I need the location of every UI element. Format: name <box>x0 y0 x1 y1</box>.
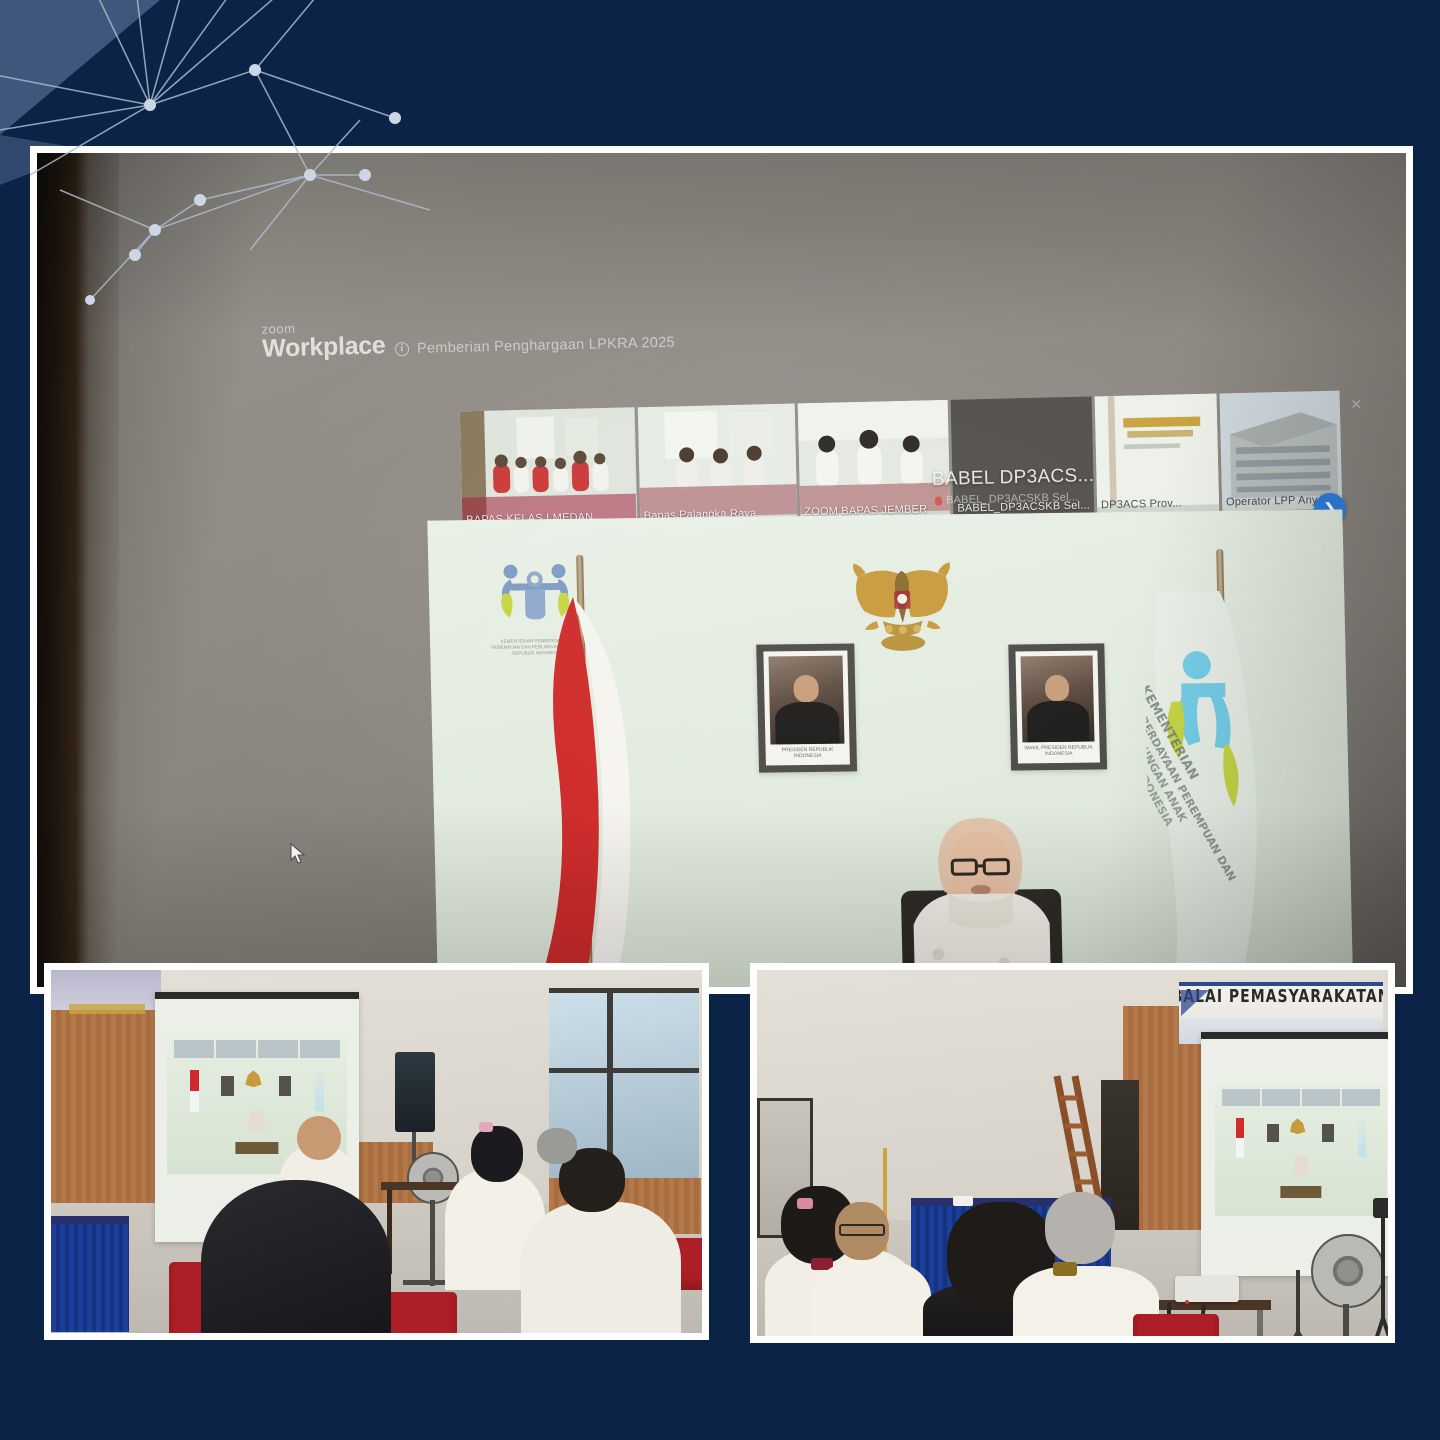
zoom-workplace-watermark: zoom Workplace <box>261 319 385 361</box>
mini-speaker-figure <box>249 1110 265 1132</box>
shared-video-stage: KEMENTERIAN PEMBERDAYAAN PEREMPUAN DAN P… <box>427 509 1355 987</box>
mini-podium <box>1280 1186 1321 1198</box>
microphone-muted-icon <box>935 496 942 505</box>
list-item-label: DP3ACS Prov... <box>1101 497 1216 512</box>
list-item <box>813 1260 931 1336</box>
audience-head-gray <box>537 1128 577 1164</box>
list-item[interactable]: ZOOM BAPAS JEMBER <box>798 400 951 522</box>
portrait-mat: PRESIDEN REPUBLIK INDONESIA <box>763 651 850 766</box>
mini-thumbnail-strip <box>1222 1089 1380 1106</box>
portrait-image <box>1021 656 1095 743</box>
indonesian-flag <box>521 596 638 987</box>
mini-ministry-flag <box>1358 1120 1367 1157</box>
mini-indonesian-flag <box>190 1070 199 1112</box>
photo-right-frame: BALAI PEMASYARAKATAN <box>750 963 1395 1343</box>
list-item[interactable]: BAPAS KELAS I MEDAN <box>460 407 637 529</box>
audience-head <box>471 1126 523 1182</box>
video-projector <box>1175 1276 1239 1302</box>
fan-stand-post <box>1343 1304 1349 1336</box>
president-portrait-frame: PRESIDEN REPUBLIK INDONESIA <box>756 643 857 772</box>
mini-garuda-icon <box>1290 1118 1305 1134</box>
list-item <box>521 1202 681 1333</box>
audience-chair <box>1133 1314 1219 1336</box>
dark-wall-edge <box>37 153 89 987</box>
projected-content <box>1215 1084 1387 1216</box>
dark-wall-edge-2 <box>89 153 119 987</box>
audience-head <box>297 1116 341 1160</box>
mini-portrait-right <box>279 1076 292 1096</box>
active-speaker-label: BABEL DP3ACS... <box>932 465 1095 491</box>
desk-leg-right <box>1257 1310 1263 1336</box>
close-icon[interactable]: ✕ <box>1350 396 1362 413</box>
hair-clip <box>797 1198 813 1209</box>
table-top <box>51 1216 129 1224</box>
banner-gold-strip <box>69 1004 145 1014</box>
portrait-caption: PRESIDEN REPUBLIK INDONESIA <box>770 744 844 758</box>
audience-room-photo-right: BALAI PEMASYARAKATAN <box>757 970 1388 1336</box>
minister-speaker <box>889 813 1074 987</box>
wood-panel-wall <box>51 1004 169 1234</box>
mini-thumbnail-strip <box>174 1040 340 1058</box>
camera-tripod <box>1361 1198 1388 1336</box>
hair-clip <box>479 1122 493 1132</box>
banner-text: BALAI PEMASYARAKATAN <box>1179 987 1383 1007</box>
list-item <box>201 1180 391 1333</box>
mini-indonesian-flag <box>1236 1118 1245 1158</box>
projector-led <box>1185 1300 1189 1304</box>
fan-stand-post <box>430 1200 435 1286</box>
projected-zoom-meeting-photo: zoom Workplace i Pemberian Penghargaan L… <box>37 153 1406 987</box>
pa-speaker-box <box>395 1052 435 1132</box>
shoulder-rank-insignia <box>1053 1262 1077 1276</box>
window-mullion-v1 <box>607 988 613 1178</box>
paper-on-table <box>953 1196 973 1206</box>
ministry-flag: KEMENTERIAN PEMBERDAYAAN PEREMPUAN DAN P… <box>1143 590 1271 987</box>
eyeglasses <box>839 1224 885 1236</box>
mini-speaker-figure <box>1293 1155 1308 1176</box>
mini-portrait-right <box>1322 1124 1334 1142</box>
mini-portrait-left <box>221 1076 234 1096</box>
side-table <box>381 1182 459 1190</box>
mouse-cursor <box>290 843 306 865</box>
portrait-image <box>768 656 844 745</box>
mini-garuda-icon <box>245 1070 261 1087</box>
window-mullion-top <box>549 988 699 993</box>
screen-roller <box>155 992 359 999</box>
list-item[interactable]: Bapas Palangka Raya <box>637 403 797 525</box>
audience-head-gray <box>1045 1192 1115 1264</box>
portrait-mat: WAKIL PRESIDEN REPUBLIK INDONESIA <box>1015 650 1100 763</box>
vice-president-portrait-frame: WAKIL PRESIDEN REPUBLIK INDONESIA <box>1008 643 1107 770</box>
screen-tripod <box>1267 1270 1329 1336</box>
audience-room-photo-left <box>51 970 702 1333</box>
mini-ministry-flag <box>315 1072 324 1111</box>
window-mullion-h <box>549 1068 699 1073</box>
list-item[interactable]: DP3ACS Prov... <box>1095 394 1220 515</box>
meeting-info-icon[interactable]: i <box>395 342 409 356</box>
mini-podium <box>235 1142 278 1155</box>
photo-left-frame <box>44 963 709 1340</box>
screen-roller <box>1201 1032 1388 1039</box>
blue-skirted-table <box>51 1216 129 1332</box>
participant-thumbnail-strip[interactable]: BAPAS KELAS I MEDAN Bapas Palangka Raya <box>460 391 1343 530</box>
mini-portrait-left <box>1267 1124 1279 1142</box>
portrait-caption: WAKIL PRESIDEN REPUBLIK INDONESIA <box>1023 742 1095 756</box>
hero-photo-frame: zoom Workplace i Pemberian Penghargaan L… <box>30 146 1413 994</box>
